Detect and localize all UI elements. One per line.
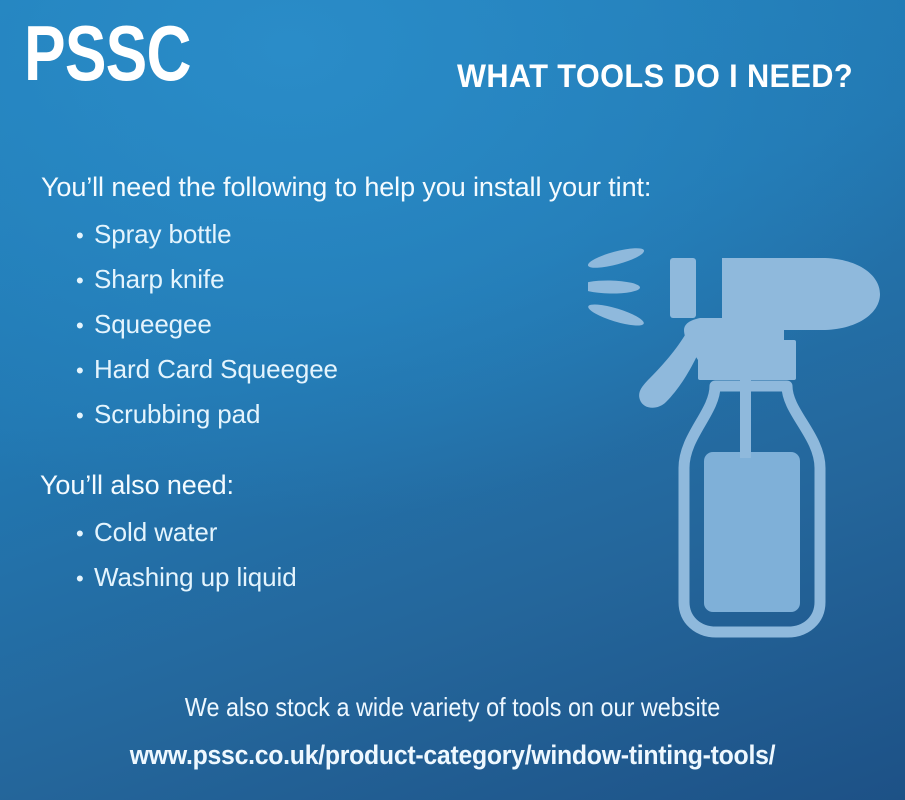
page-title: WHAT TOOLS DO I NEED? xyxy=(429,58,880,95)
list-item: • Hard Card Squeegee xyxy=(76,354,338,399)
list-item: • Cold water xyxy=(76,517,297,562)
list-item-label: Cold water xyxy=(94,517,217,548)
pssc-logo: PSSC xyxy=(24,14,191,92)
bullet-icon: • xyxy=(76,405,94,427)
dip-tube xyxy=(740,380,751,458)
bottle-liquid xyxy=(704,452,800,612)
list-item: • Scrubbing pad xyxy=(76,399,338,444)
list-item-label: Washing up liquid xyxy=(94,562,297,593)
extras-list: • Cold water • Washing up liquid xyxy=(76,517,297,607)
list-item-label: Sharp knife xyxy=(94,264,224,295)
footer-url[interactable]: www.pssc.co.uk/product-category/window-t… xyxy=(36,740,869,771)
intro-primary-text: You’ll need the following to help you in… xyxy=(41,172,651,203)
list-item: • Washing up liquid xyxy=(76,562,297,607)
bullet-icon: • xyxy=(76,523,94,545)
bullet-icon: • xyxy=(76,270,94,292)
list-item-label: Squeegee xyxy=(94,309,212,340)
spray-mist-icon xyxy=(588,244,646,329)
bullet-icon: • xyxy=(76,360,94,382)
list-item-label: Scrubbing pad xyxy=(94,399,260,430)
bullet-icon: • xyxy=(76,568,94,590)
spray-bottle-illustration xyxy=(588,236,888,668)
bullet-icon: • xyxy=(76,315,94,337)
bottle-collar xyxy=(698,340,796,380)
intro-secondary-text: You’ll also need: xyxy=(40,470,234,501)
bullet-icon: • xyxy=(76,225,94,247)
nozzle-cap xyxy=(670,258,696,318)
list-item-label: Spray bottle xyxy=(94,219,232,250)
trigger xyxy=(639,326,706,408)
list-item: • Sharp knife xyxy=(76,264,338,309)
list-item: • Squeegee xyxy=(76,309,338,354)
list-item: • Spray bottle xyxy=(76,219,338,264)
list-item-label: Hard Card Squeegee xyxy=(94,354,338,385)
poster-canvas: PSSC WHAT TOOLS DO I NEED? You’ll need t… xyxy=(0,0,905,800)
footer-note: We also stock a wide variety of tools on… xyxy=(45,692,860,723)
tools-list: • Spray bottle • Sharp knife • Squeegee … xyxy=(76,219,338,444)
